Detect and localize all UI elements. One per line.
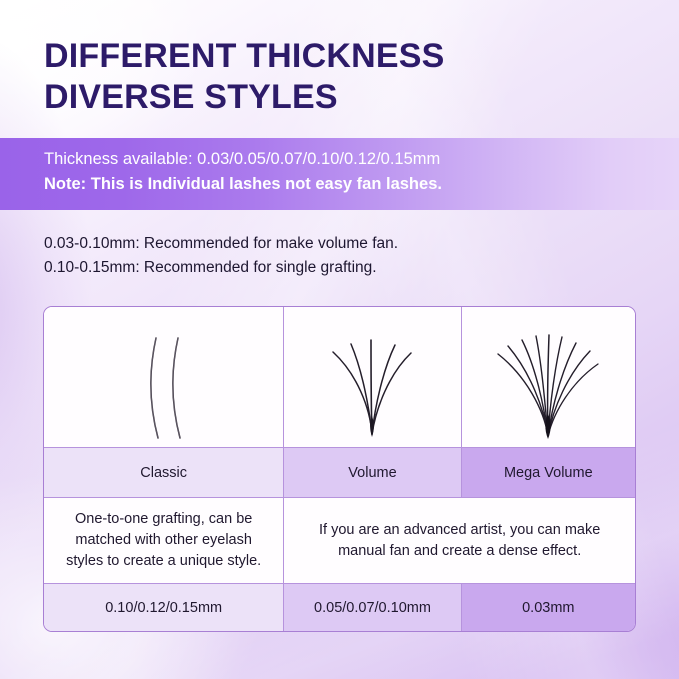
table-row-style-labels: Classic Volume Mega Volume xyxy=(44,447,635,497)
description-classic: One-to-one grafting, can be matched with… xyxy=(44,498,283,583)
thickness-available-text: Thickness available: 0.03/0.05/0.07/0.10… xyxy=(44,147,679,172)
description-volume-and-mega: If you are an advanced artist, you can m… xyxy=(283,498,635,583)
page-title-line-2: DIVERSE STYLES xyxy=(44,77,644,118)
classic-lash-illustration xyxy=(104,312,224,442)
volume-fan-illustration xyxy=(307,312,437,442)
illustration-cell-mega-volume xyxy=(461,307,635,447)
style-label-classic: Classic xyxy=(44,448,283,497)
table-row-thickness: 0.10/0.12/0.15mm 0.05/0.07/0.10mm 0.03mm xyxy=(44,583,635,631)
thickness-classic: 0.10/0.12/0.15mm xyxy=(44,584,283,631)
thickness-mega-volume: 0.03mm xyxy=(461,584,635,631)
thickness-volume: 0.05/0.07/0.10mm xyxy=(283,584,460,631)
recommendation-line-1: 0.03-0.10mm: Recommended for make volume… xyxy=(44,232,398,256)
illustration-cell-volume xyxy=(283,307,460,447)
style-label-mega-volume: Mega Volume xyxy=(461,448,635,497)
lash-style-comparison-table: Classic Volume Mega Volume One-to-one gr… xyxy=(43,306,636,632)
style-label-volume: Volume xyxy=(283,448,460,497)
page-title-line-1: DIFFERENT THICKNESS xyxy=(44,36,644,77)
illustration-cell-classic xyxy=(44,307,283,447)
thickness-banner: Thickness available: 0.03/0.05/0.07/0.10… xyxy=(0,138,679,210)
recommendation-line-2: 0.10-0.15mm: Recommended for single graf… xyxy=(44,256,398,280)
table-row-descriptions: One-to-one grafting, can be matched with… xyxy=(44,497,635,583)
recommendation-block: 0.03-0.10mm: Recommended for make volume… xyxy=(44,232,398,279)
page-title: DIFFERENT THICKNESS DIVERSE STYLES xyxy=(44,36,644,119)
table-row-illustrations xyxy=(44,307,635,447)
product-note-text: Note: This is Individual lashes not easy… xyxy=(44,172,679,197)
product-infographic: DIFFERENT THICKNESS DIVERSE STYLES Thick… xyxy=(0,0,679,679)
mega-volume-fan-illustration xyxy=(478,312,618,442)
